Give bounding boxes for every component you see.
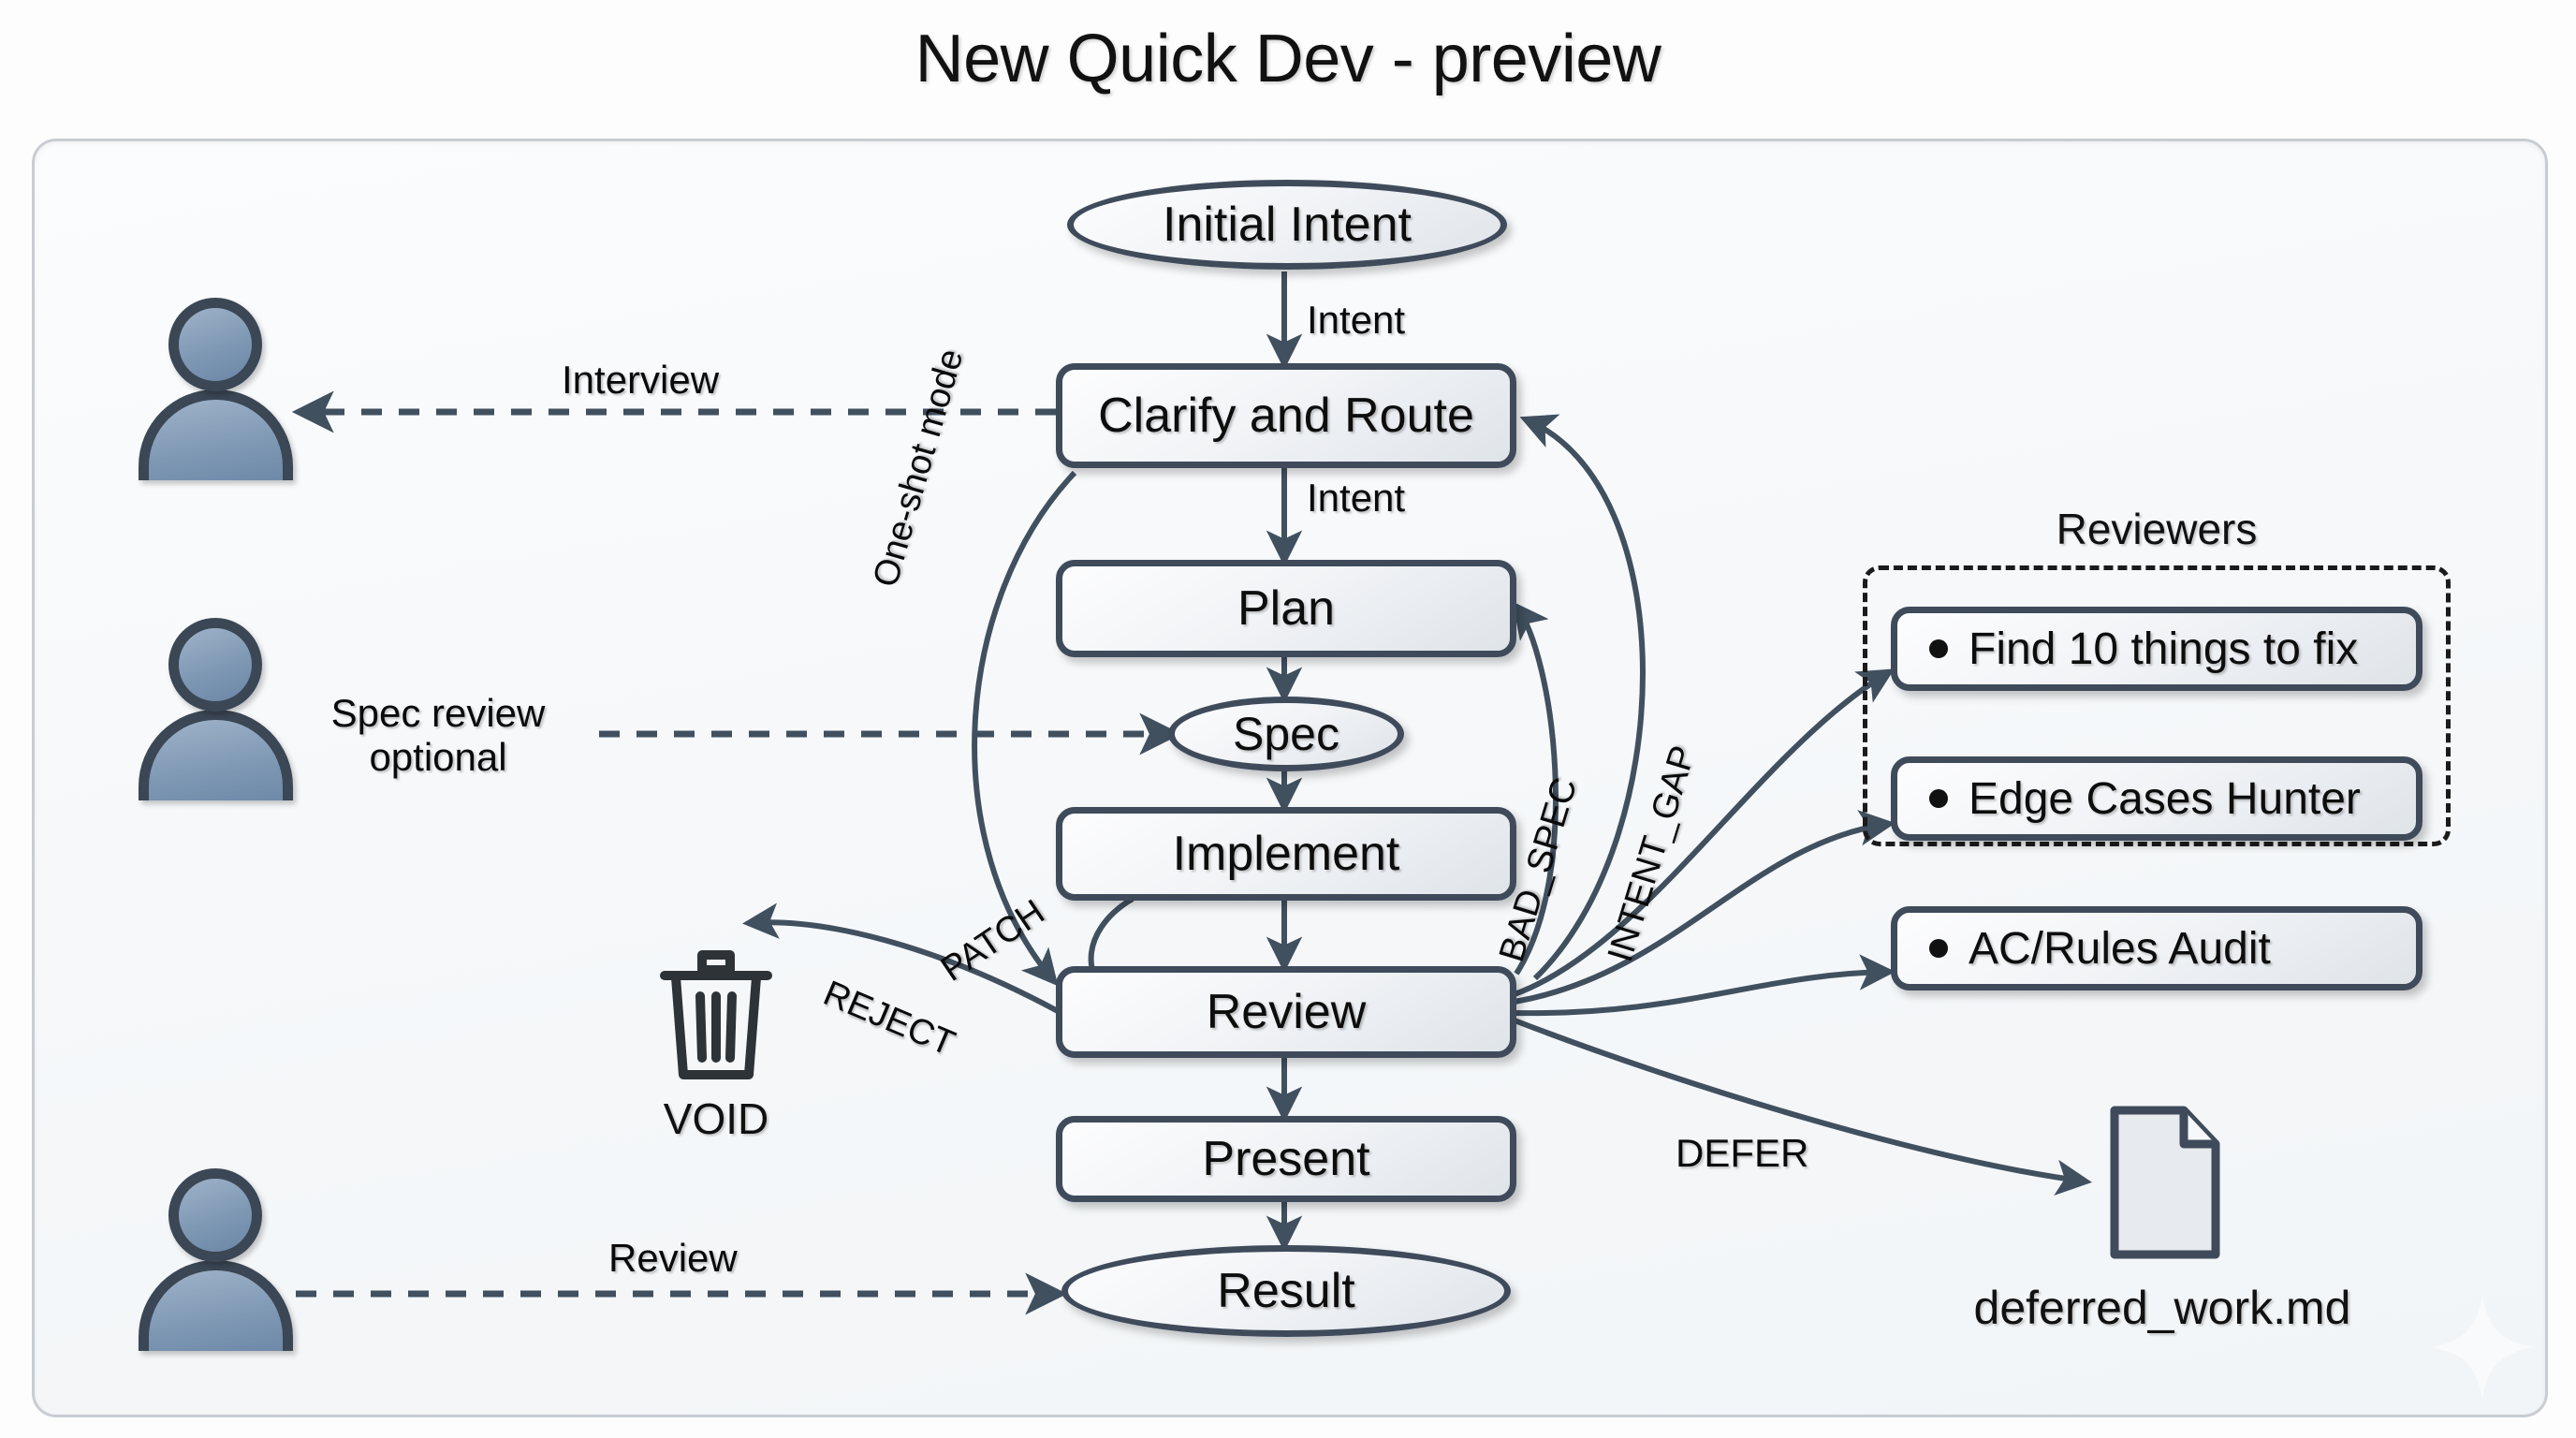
- edge-label-defer: DEFER: [1676, 1131, 1808, 1176]
- edge-label-interview: Interview: [562, 358, 719, 403]
- document-icon[interactable]: [2101, 1105, 2223, 1262]
- artifact-label-deferred-work: deferred_work.md: [1910, 1281, 2415, 1335]
- actor-result-reviewer[interactable]: [139, 1168, 293, 1351]
- cluster-label-reviewers: Reviewers: [1863, 504, 2451, 554]
- node-label: Initial Intent: [1163, 197, 1412, 253]
- reviewer-item-ac-rules-audit[interactable]: AC/Rules Audit: [1891, 906, 2422, 990]
- actor-interviewee[interactable]: [139, 298, 293, 480]
- node-review[interactable]: Review: [1056, 966, 1516, 1058]
- person-icon: [168, 1168, 262, 1262]
- node-plan[interactable]: Plan: [1056, 560, 1516, 657]
- person-icon: [168, 298, 262, 391]
- person-body: [139, 389, 293, 480]
- edge-label-line-2: optional: [369, 735, 506, 779]
- node-label: Clarify and Route: [1098, 388, 1474, 444]
- person-body: [139, 710, 293, 800]
- trash-icon[interactable]: [655, 936, 777, 1081]
- reviewer-label: AC/Rules Audit: [1969, 923, 2271, 975]
- node-clarify-and-route[interactable]: Clarify and Route: [1056, 363, 1516, 468]
- bullet-icon: [1929, 939, 1948, 958]
- artifact-label-void: VOID: [599, 1093, 833, 1144]
- node-spec[interactable]: Spec: [1168, 697, 1404, 771]
- actor-spec-reviewer[interactable]: [139, 618, 293, 800]
- bullet-icon: [1929, 639, 1948, 658]
- node-label: Implement: [1173, 826, 1400, 882]
- node-label: Review: [1207, 984, 1367, 1040]
- person-body: [139, 1260, 293, 1351]
- node-present[interactable]: Present: [1056, 1116, 1516, 1202]
- person-icon: [168, 618, 262, 712]
- node-implement[interactable]: Implement: [1056, 807, 1516, 901]
- bullet-icon: [1929, 789, 1948, 808]
- edge-label-intent-1: Intent: [1307, 298, 1405, 343]
- reviewer-label: Find 10 things to fix: [1969, 624, 2358, 675]
- node-initial-intent[interactable]: Initial Intent: [1067, 180, 1507, 270]
- node-label: Spec: [1233, 707, 1339, 761]
- node-label: Result: [1217, 1263, 1354, 1319]
- reviewer-item-find-10-things-to-fix[interactable]: Find 10 things to fix: [1891, 607, 2422, 691]
- node-label: Plan: [1237, 580, 1335, 637]
- diagram-stage: New Quick Dev - preview: [0, 0, 2576, 1438]
- edge-label-line-1: Spec review: [331, 691, 546, 735]
- node-label: Present: [1202, 1131, 1369, 1187]
- edge-label-review-result: Review: [608, 1236, 738, 1281]
- reviewer-label: Edge Cases Hunter: [1969, 773, 2361, 825]
- sparkle-watermark-icon: [2426, 1291, 2539, 1408]
- edge-label-spec-review-optional: Spec review optional: [298, 691, 578, 779]
- page-title: New Quick Dev - preview: [0, 21, 2576, 97]
- node-result[interactable]: Result: [1061, 1245, 1511, 1337]
- edge-label-intent-2: Intent: [1307, 476, 1405, 521]
- reviewer-item-edge-cases-hunter[interactable]: Edge Cases Hunter: [1891, 756, 2422, 841]
